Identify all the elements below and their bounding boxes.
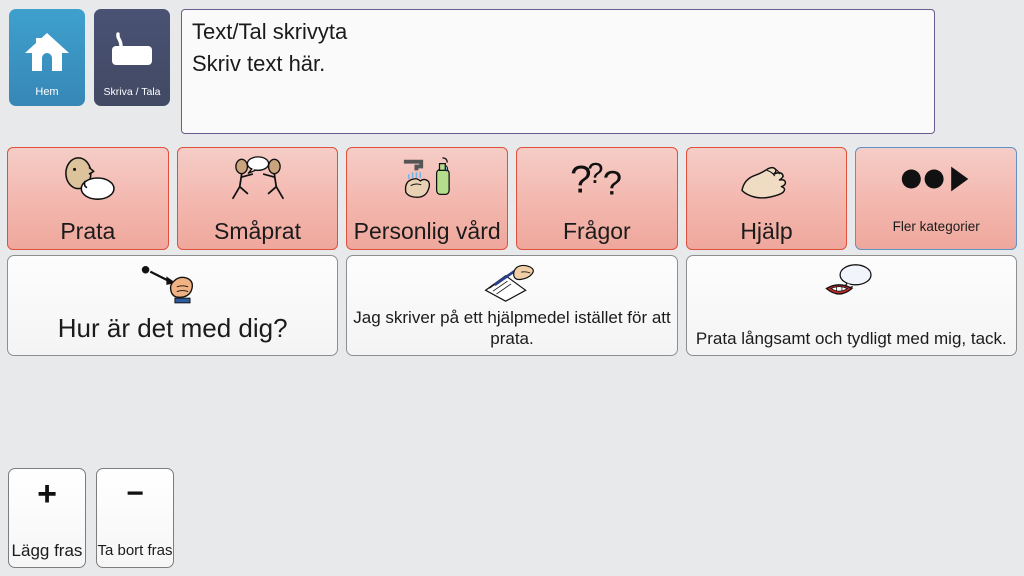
category-label-fragor: Frågor: [517, 218, 677, 245]
category-button-hjalp[interactable]: Hjälp: [686, 147, 848, 250]
category-label-prata: Prata: [8, 218, 168, 245]
category-button-smaprat[interactable]: Småprat: [177, 147, 339, 250]
phrase-label-1: Hur är det med dig?: [12, 313, 333, 343]
remove-phrase-button[interactable]: − Ta bort fras: [96, 468, 174, 568]
pointing-hand-icon: [8, 259, 337, 307]
question-marks-icon: ? ? ?: [517, 152, 677, 206]
category-label-fler-kategorier: Fler kategorier: [856, 213, 1016, 240]
svg-text:?: ?: [603, 164, 622, 202]
add-phrase-button[interactable]: + Lägg fras: [8, 468, 86, 568]
nav-label-write-speak: Skriva / Tala: [94, 86, 170, 99]
category-row: Prata Småprat: [0, 147, 1024, 250]
phrase-row: Hur är det med dig? Jag skriver på ett h…: [0, 255, 1024, 356]
category-cell-hjalp: Hjälp: [686, 147, 848, 250]
helping-hand-icon: [687, 152, 847, 206]
phrase-label-2: Jag skriver på ett hjälpmedel istället f…: [351, 307, 672, 349]
nav-label-home: Hem: [9, 86, 85, 99]
category-button-personlig-vard[interactable]: Personlig vård: [346, 147, 508, 250]
speech-device-icon: [108, 27, 156, 75]
category-label-personlig-vard: Personlig vård: [347, 218, 507, 245]
phrase-button-prata-langsamt[interactable]: Prata långsamt och tydligt med mig, tack…: [686, 255, 1017, 356]
phrase-label-3: Prata långsamt och tydligt med mig, tack…: [691, 328, 1012, 349]
category-button-fler-kategorier[interactable]: Fler kategorier: [855, 147, 1017, 250]
add-phrase-label: Lägg fras: [9, 541, 85, 561]
home-icon: [23, 27, 71, 75]
edit-controls-row: + Lägg fras − Ta bort fras: [8, 468, 184, 568]
phrase-button-hur-ar-det-med-dig[interactable]: Hur är det med dig?: [7, 255, 338, 356]
mouth-speech-bubble-icon: [687, 259, 1016, 307]
category-label-smaprat: Småprat: [178, 218, 338, 245]
svg-text:?: ?: [587, 158, 603, 190]
aac-communication-board: Hem Skriva / Tala Text/Tal skrivyta Skri…: [0, 0, 1024, 576]
category-button-prata[interactable]: Prata: [7, 147, 169, 250]
category-label-hjalp: Hjälp: [687, 218, 847, 245]
phrase-cell-2: Jag skriver på ett hjälpmedel istället f…: [346, 255, 677, 356]
minus-icon: −: [126, 477, 144, 511]
phrase-button-jag-skriver-pa-hjalpmedel[interactable]: Jag skriver på ett hjälpmedel istället f…: [346, 255, 677, 356]
top-bar: Hem Skriva / Tala Text/Tal skrivyta Skri…: [0, 0, 1024, 142]
handwashing-icon: [347, 152, 507, 206]
category-cell-fler-kategorier: Fler kategorier: [855, 147, 1017, 250]
text-area-title: Text/Tal skrivyta: [192, 16, 924, 48]
phrase-cell-1: Hur är det med dig?: [7, 255, 338, 356]
phrase-cell-3: Prata långsamt och tydligt med mig, tack…: [686, 255, 1017, 356]
two-people-chatting-icon: [178, 152, 338, 206]
category-cell-personlig-vard: Personlig vård: [346, 147, 508, 250]
writing-hand-icon: [347, 259, 676, 307]
category-cell-smaprat: Småprat: [177, 147, 339, 250]
text-speech-input-area[interactable]: Text/Tal skrivyta Skriv text här.: [181, 9, 935, 134]
category-cell-prata: Prata: [7, 147, 169, 250]
talking-head-icon: [8, 152, 168, 206]
category-cell-fragor: ? ? ? Frågor: [516, 147, 678, 250]
nav-button-write-speak[interactable]: Skriva / Tala: [94, 9, 170, 106]
more-arrow-icon: [856, 152, 1016, 206]
plus-icon: +: [37, 477, 57, 511]
text-area-placeholder: Skriv text här.: [192, 48, 924, 80]
remove-phrase-label: Ta bort fras: [97, 541, 173, 561]
nav-button-home[interactable]: Hem: [9, 9, 85, 106]
category-button-fragor[interactable]: ? ? ? Frågor: [516, 147, 678, 250]
